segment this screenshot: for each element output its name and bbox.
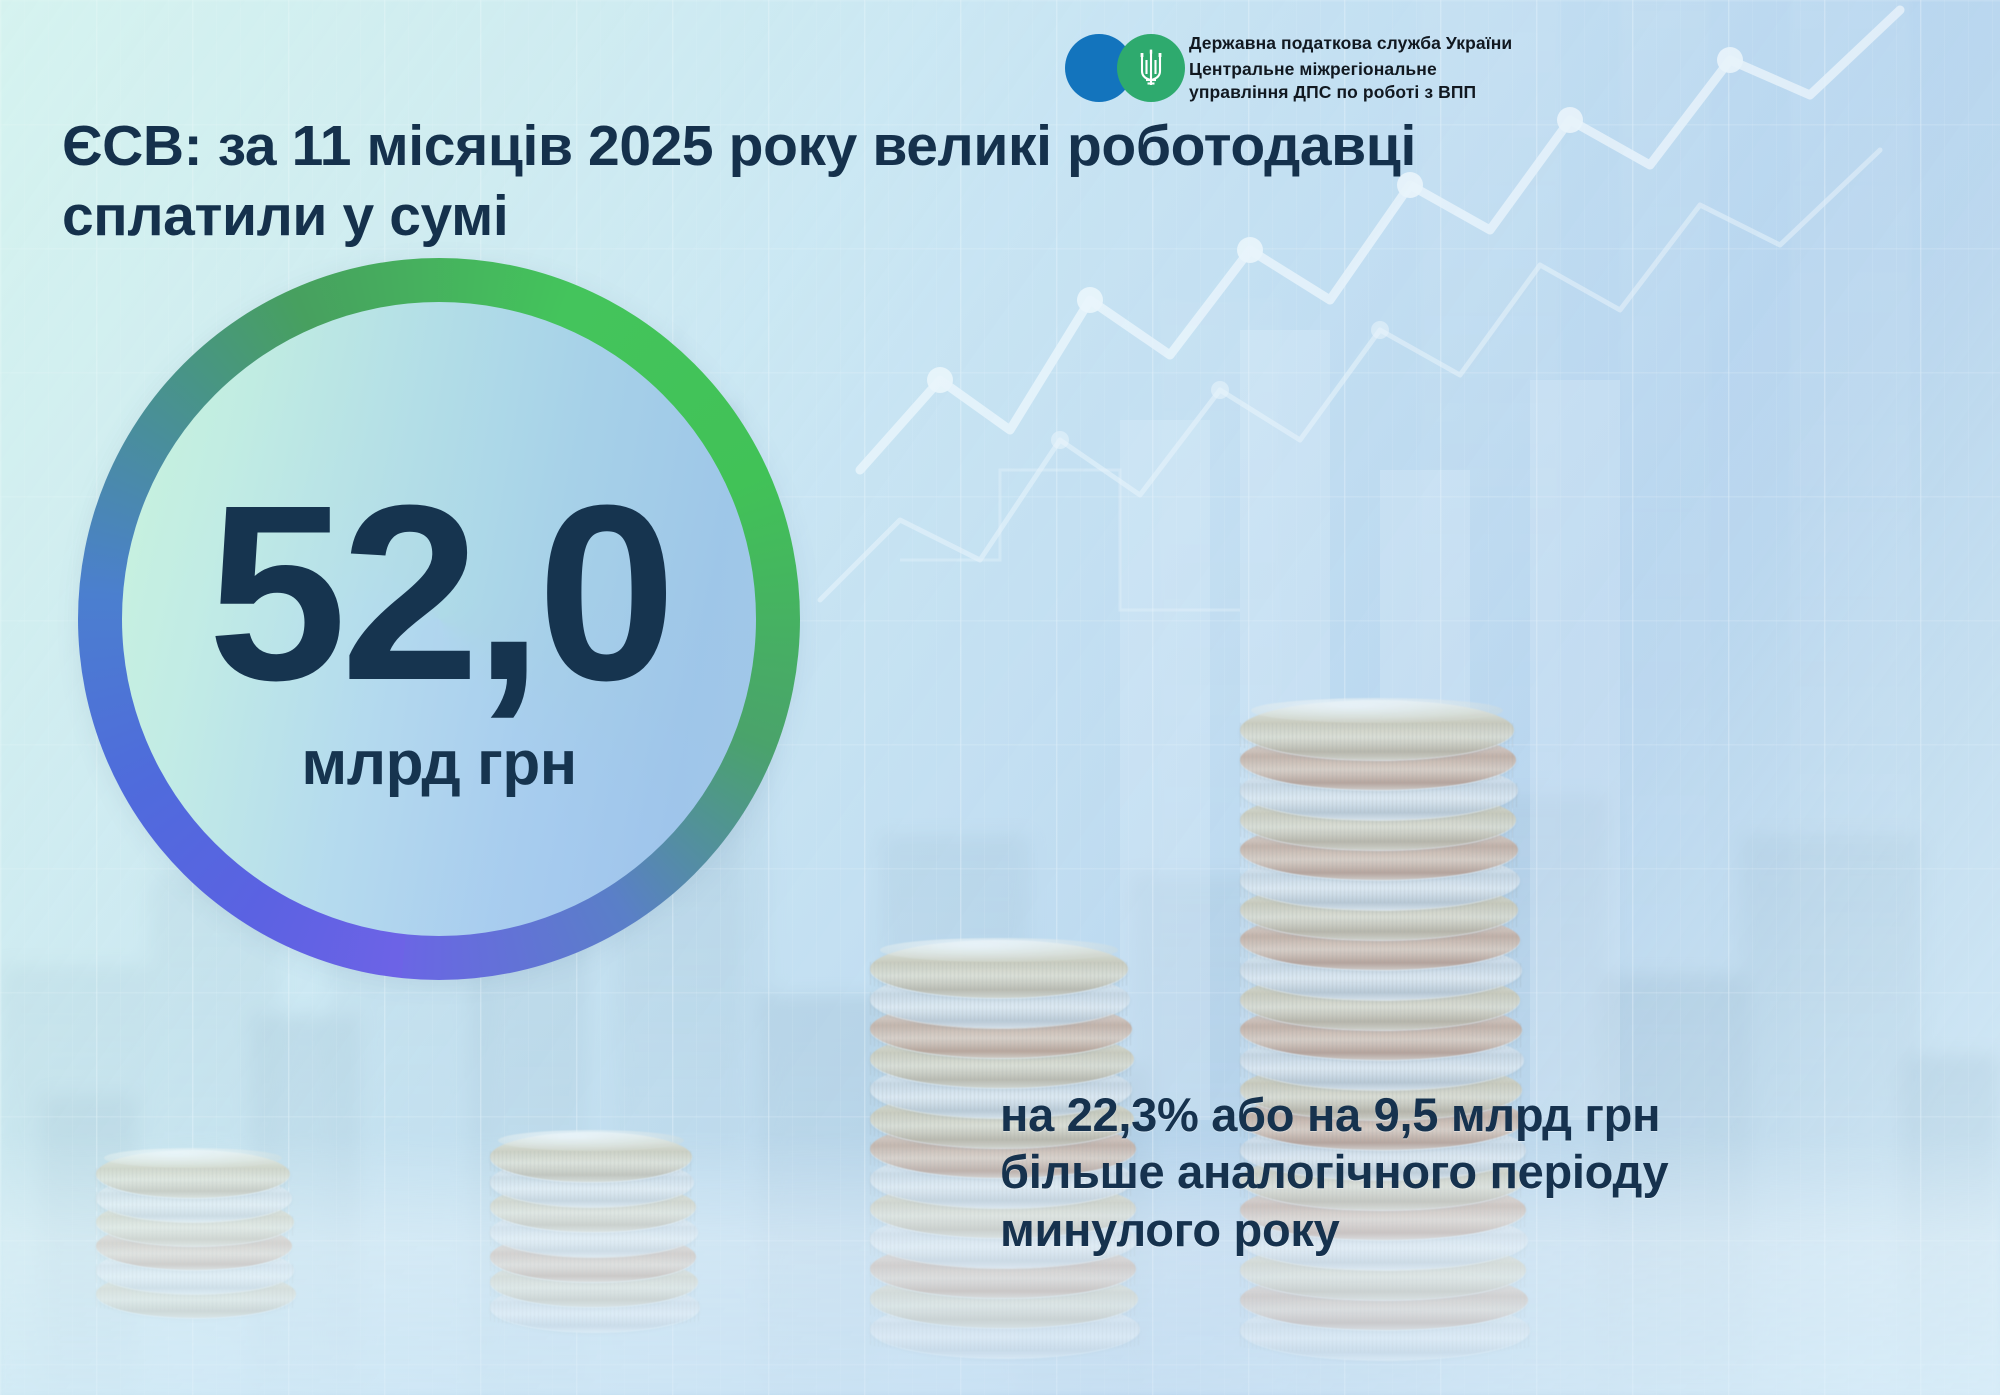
comparison-note: на 22,3% або на 9,5 млрд грн більше анал…: [1000, 1086, 1980, 1258]
headline: ЄСВ: за 11 місяців 2025 року великі робо…: [62, 112, 1482, 251]
infographic-poster: Державна податкова служба України Центра…: [0, 0, 2000, 1395]
ukraine-trident-icon: [1136, 47, 1166, 89]
note-line-1: на 22,3% або на 9,5 млрд грн: [1000, 1086, 1980, 1143]
agency-logo: Державна податкова служба України Центра…: [1065, 30, 1512, 106]
logo-line-1: Державна податкова служба України: [1189, 34, 1512, 53]
highlight-donut-inner: 52,0 млрд грн: [122, 302, 756, 936]
logo-green-circle-icon: [1117, 34, 1185, 102]
logo-subtitle: Центральне міжрегіональне управління ДПС…: [1189, 60, 1512, 103]
logo-marks: [1065, 30, 1185, 106]
highlight-value: 52,0: [208, 480, 671, 705]
headline-line-2: сплатили у сумі: [62, 182, 1482, 252]
highlight-donut-ring: 52,0 млрд грн: [78, 258, 800, 980]
note-line-3: минулого року: [1000, 1201, 1980, 1258]
note-line-2: більше аналогічного періоду: [1000, 1143, 1980, 1200]
highlight-unit: млрд грн: [301, 733, 576, 795]
logo-line-2: Центральне міжрегіональне: [1189, 60, 1512, 79]
headline-line-1: ЄСВ: за 11 місяців 2025 року великі робо…: [62, 112, 1482, 182]
logo-line-3: управління ДПС по роботі з ВПП: [1189, 83, 1512, 102]
logo-text-block: Державна податкова служба України Центра…: [1189, 34, 1512, 103]
